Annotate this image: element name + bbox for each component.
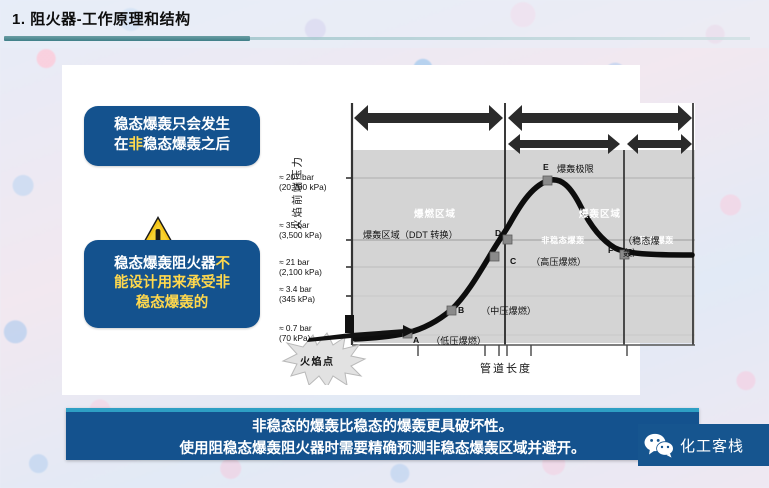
point-text-f: （稳态爆轰）: [623, 236, 663, 259]
marker-point-e: [543, 176, 552, 185]
zone-label-detonation: 爆轰区域: [555, 206, 645, 220]
point-text-d: 爆轰区域（DDT 转换）: [363, 227, 458, 241]
marker-point-d: [503, 235, 512, 244]
point-label-f: F: [608, 245, 613, 255]
slide-title-bar: 1. 阻火器-工作原理和结构: [0, 0, 769, 48]
callout1-line2-highlight: 非: [129, 137, 144, 153]
point-text-b: （中压爆燃）: [481, 303, 536, 317]
point-text-c: （高压爆燃）: [531, 254, 586, 268]
wechat-icon: [644, 432, 674, 458]
chart-x-axis-label: 管道长度: [480, 360, 532, 376]
zone-label-unstable-detonation: 非稳态爆轰: [523, 234, 603, 246]
point-text-e: 爆轰极限: [557, 161, 594, 175]
zone-label-deflagration: 爆燃区域: [395, 206, 475, 220]
callout1-line2-prefix: 在: [114, 137, 129, 153]
ignition-point-label: 火焰点: [300, 353, 335, 368]
callout1-line2-suffix: 稳态爆轰之后: [143, 137, 230, 153]
marker-point-c: [490, 252, 499, 261]
summary-banner: 非稳态的爆轰比稳态的爆轰更具破坏性。 使用阻稳态爆轰阻火器时需要精确预测非稳态爆…: [66, 408, 699, 460]
pressure-vs-pipe-length-chart: 火焰前端压力 ≈ 207 bar (20,700 kPa) ≈ 35 bar (…: [255, 95, 695, 385]
callout2-line2: 能设计用来承受非: [114, 275, 230, 291]
point-label-e: E: [543, 162, 549, 172]
wechat-account-tag[interactable]: 化工客栈: [638, 424, 769, 466]
callout-stable-after-unstable: 稳态爆轰只会发生 在非稳态爆轰之后: [84, 106, 260, 166]
page-title: 1. 阻火器-工作原理和结构: [12, 8, 191, 29]
callout1-line1: 稳态爆轰只会发生: [114, 117, 230, 133]
ignition-bar-icon: [345, 315, 354, 333]
point-label-d: D: [495, 228, 501, 238]
marker-point-b: [447, 306, 456, 315]
callout2-line1-prefix: 稳态爆轰阻火器: [114, 256, 216, 272]
title-underline: [4, 36, 250, 41]
point-label-c: C: [510, 256, 516, 266]
callout2-line3: 稳态爆轰的: [136, 295, 209, 311]
banner-line-1: 非稳态的爆轰比稳态的爆轰更具破坏性。: [66, 417, 699, 439]
title-underline-extension: [250, 37, 750, 40]
callout2-line1-highlight: 不: [216, 256, 231, 272]
point-label-a: A: [413, 335, 419, 345]
banner-line-2: 使用阻稳态爆轰阻火器时需要精确预测非稳态爆轰区域并避开。: [66, 439, 699, 461]
callout-not-designed-for-unstable: 稳态爆轰阻火器不 能设计用来承受非 稳态爆轰的: [84, 240, 260, 328]
wechat-account-name: 化工客栈: [680, 435, 744, 456]
point-label-b: B: [458, 305, 464, 315]
point-text-a: （低压爆燃）: [431, 333, 486, 347]
